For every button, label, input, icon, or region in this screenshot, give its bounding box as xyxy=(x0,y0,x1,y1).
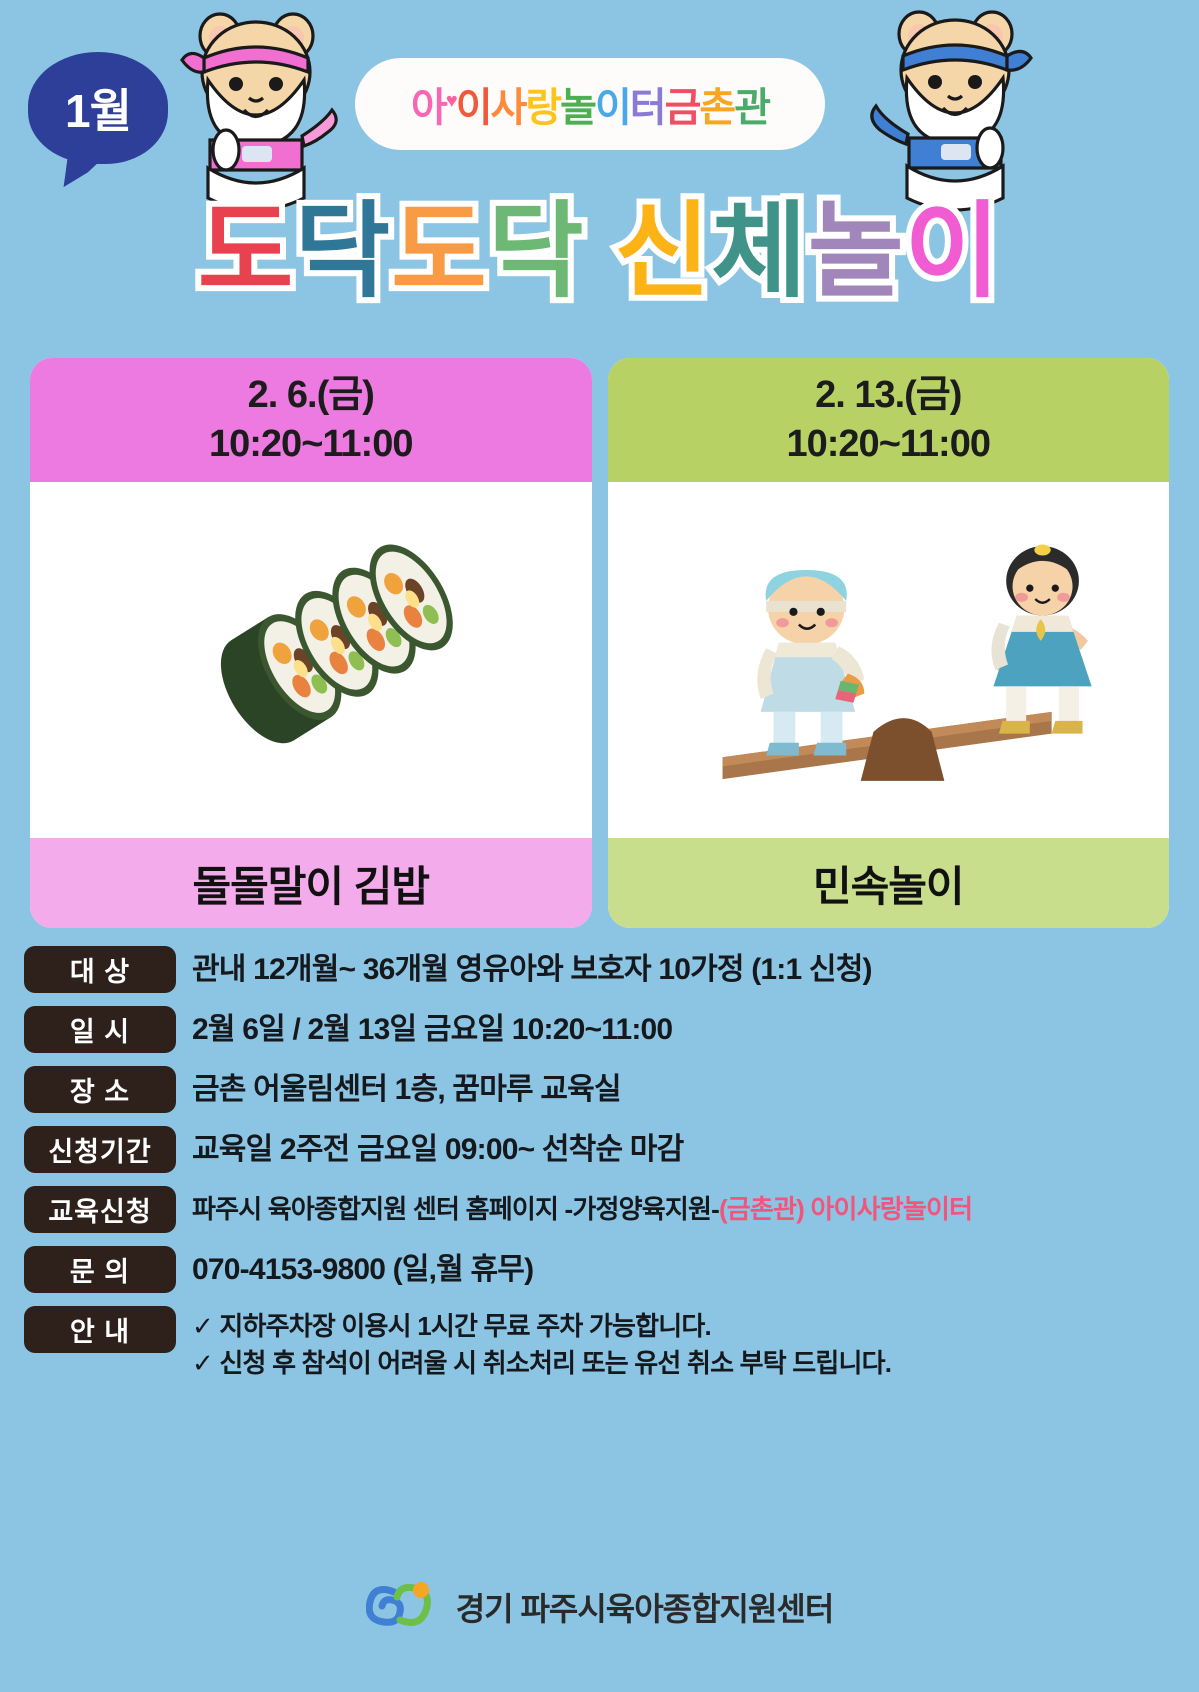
card-1-time: 10:20~11:00 xyxy=(209,420,412,469)
logo-char-2: 사 xyxy=(491,75,526,133)
notice-line-0: ✓ 지하주차장 이용시 1시간 무료 주차 가능합니다. xyxy=(192,1308,1184,1345)
card-2-activity-label: 민속놀이 xyxy=(813,853,964,914)
info-label-apply-text: 교육신청 xyxy=(48,1190,151,1229)
poster-title: 도닥도닥 신체놀이 xyxy=(0,196,1199,308)
logo-char-1: 이 xyxy=(456,75,491,133)
card-1-activity: 돌돌말이 김밥 xyxy=(30,838,592,928)
info-row-location: 장 소 금촌 어울림센터 1층, 꿈마루 교육실 xyxy=(24,1066,1184,1113)
footer: 경기 파주시육아종합지원센터 xyxy=(0,1580,1199,1634)
seesaw-children-illustration-icon xyxy=(663,510,1113,810)
card-2-activity: 민속놀이 xyxy=(608,838,1170,928)
card-1-date: 2. 6.(금) xyxy=(248,371,374,420)
poster: 1월 xyxy=(0,0,1199,1692)
info-row-datetime: 일 시 2월 6일 / 2월 13일 금요일 10:20~11:00 xyxy=(24,1006,1184,1053)
title-char-0: 도 xyxy=(198,196,295,308)
info-label-period: 신청기간 xyxy=(24,1126,176,1173)
info-label-apply: 교육신청 xyxy=(24,1186,176,1233)
info-label-target: 대 상 xyxy=(24,946,176,993)
brand-logo-text: 아♥이사랑놀이터금촌관 xyxy=(411,75,769,133)
info-list: 대 상 관내 12개월~ 36개월 영유아와 보호자 10가정 (1:1 신청)… xyxy=(24,946,1184,1395)
info-value-datetime: 2월 6일 / 2월 13일 금요일 10:20~11:00 xyxy=(192,1006,1184,1053)
program-cards: 2. 6.(금) 10:20~11:00 xyxy=(30,358,1169,928)
info-label-period-text: 신청기간 xyxy=(48,1130,151,1169)
swirl-logo-icon xyxy=(366,1580,442,1634)
logo-char-0: 아 xyxy=(411,75,446,133)
info-row-notice: 안 내 ✓ 지하주차장 이용시 1시간 무료 주차 가능합니다.✓ 신청 후 참… xyxy=(24,1306,1184,1382)
info-label-location-text: 장 소 xyxy=(70,1070,130,1109)
info-label-datetime: 일 시 xyxy=(24,1006,176,1053)
apply-prefix: 파주시 육아종합지원 센터 홈페이지 -가정양육지원- xyxy=(192,1194,719,1224)
card-1-image xyxy=(30,482,592,838)
logo-char-4: 놀 xyxy=(560,75,595,133)
poster-header: 1월 xyxy=(0,0,1199,200)
info-label-datetime-text: 일 시 xyxy=(70,1010,130,1049)
title-char-1: 닥 xyxy=(294,196,391,308)
title-char-3: 닥 xyxy=(488,196,585,308)
info-value-contact: 070-4153-9800 (일,월 휴무) xyxy=(192,1246,1184,1293)
program-card-1[interactable]: 2. 6.(금) 10:20~11:00 xyxy=(30,358,592,928)
logo-char-3: 랑 xyxy=(525,75,560,133)
title-char-4 xyxy=(585,196,615,308)
info-row-contact: 문 의 070-4153-9800 (일,월 휴무) xyxy=(24,1246,1184,1293)
info-row-period: 신청기간 교육일 2주전 금요일 09:00~ 선착순 마감 xyxy=(24,1126,1184,1173)
info-label-location: 장 소 xyxy=(24,1066,176,1113)
logo-char-9: 관 xyxy=(734,75,769,133)
card-2-date: 2. 13.(금) xyxy=(815,371,961,420)
card-2-header: 2. 13.(금) 10:20~11:00 xyxy=(608,358,1170,482)
info-value-location: 금촌 어울림센터 1층, 꿈마루 교육실 xyxy=(192,1066,1184,1113)
title-char-5: 신 xyxy=(614,196,711,308)
month-badge-label: 1월 xyxy=(65,75,131,141)
info-value-apply: 파주시 육아종합지원 센터 홈페이지 -가정양육지원-(금촌관) 아이사랑놀이터 xyxy=(192,1186,1184,1233)
info-value-period: 교육일 2주전 금요일 09:00~ 선착순 마감 xyxy=(192,1126,1184,1173)
info-value-target: 관내 12개월~ 36개월 영유아와 보호자 10가정 (1:1 신청) xyxy=(192,946,1184,993)
title-char-2: 도 xyxy=(391,196,488,308)
info-label-target-text: 대 상 xyxy=(70,950,130,989)
hamster-mascot-pink-icon xyxy=(168,0,343,210)
card-1-activity-label: 돌돌말이 김밥 xyxy=(192,853,429,914)
brand-logo: 아♥이사랑놀이터금촌관 xyxy=(355,58,825,150)
month-badge: 1월 xyxy=(28,52,168,164)
title-char-8: 이 xyxy=(905,196,1002,308)
card-2-time: 10:20~11:00 xyxy=(787,420,990,469)
title-char-6: 체 xyxy=(711,196,808,308)
card-2-image xyxy=(608,482,1170,838)
info-label-notice: 안 내 xyxy=(24,1306,176,1353)
title-char-7: 놀 xyxy=(808,196,905,308)
notice-line-1: ✓ 신청 후 참석이 어려울 시 취소처리 또는 유선 취소 부탁 드립니다. xyxy=(192,1345,1184,1382)
info-label-contact-text: 문 의 xyxy=(70,1250,130,1289)
heart-icon: ♥ xyxy=(446,90,456,113)
apply-suffix: 아이사랑놀이터 xyxy=(804,1194,972,1224)
logo-char-6: 터 xyxy=(630,75,665,133)
info-row-apply: 교육신청 파주시 육아종합지원 센터 홈페이지 -가정양육지원-(금촌관) 아이… xyxy=(24,1186,1184,1233)
logo-char-5: 이 xyxy=(595,75,630,133)
card-1-header: 2. 6.(금) 10:20~11:00 xyxy=(30,358,592,482)
footer-org-name: 경기 파주시육아종합지원센터 xyxy=(456,1584,834,1630)
logo-char-8: 촌 xyxy=(699,75,734,133)
info-value-notice: ✓ 지하주차장 이용시 1시간 무료 주차 가능합니다.✓ 신청 후 참석이 어… xyxy=(192,1306,1184,1382)
program-card-2[interactable]: 2. 13.(금) 10:20~11:00 xyxy=(608,358,1170,928)
info-row-target: 대 상 관내 12개월~ 36개월 영유아와 보호자 10가정 (1:1 신청) xyxy=(24,946,1184,993)
apply-highlight: (금촌관) xyxy=(719,1194,804,1224)
gimbap-roll-illustration-icon xyxy=(111,515,511,805)
hamster-mascot-blue-icon xyxy=(864,0,1049,215)
logo-char-7: 금 xyxy=(665,75,700,133)
info-label-notice-text: 안 내 xyxy=(70,1310,130,1349)
info-label-contact: 문 의 xyxy=(24,1246,176,1293)
